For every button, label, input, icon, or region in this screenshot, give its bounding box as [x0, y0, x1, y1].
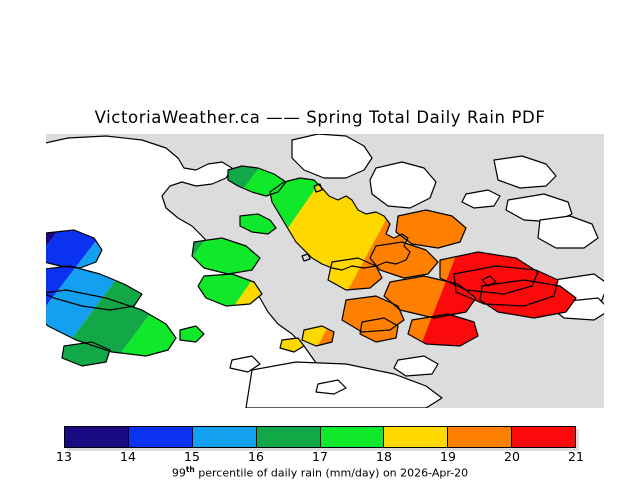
precipitation-map[interactable]	[46, 134, 604, 408]
colorbar-band-18-19[interactable]	[384, 427, 448, 447]
page-title: VictoriaWeather.ca —— Spring Total Daily…	[0, 108, 640, 127]
colorbar-tick-8: 21	[568, 449, 584, 464]
colorbar-tick-0: 13	[56, 449, 72, 464]
colorbar-band-20-21[interactable]	[512, 427, 575, 447]
colorbar-tick-1: 14	[120, 449, 136, 464]
colorbar-ticks: 13 14 15 16 17 18 19 20 21	[0, 449, 640, 465]
colorbar-band-16-17[interactable]	[257, 427, 321, 447]
colorbar-band-15-16[interactable]	[193, 427, 257, 447]
colorbar-tick-6: 19	[440, 449, 456, 464]
colorbar-tick-7: 20	[504, 449, 520, 464]
colorbar-band-19-20[interactable]	[448, 427, 512, 447]
caption-prefix: 99	[172, 467, 186, 480]
colorbar-tick-3: 16	[248, 449, 264, 464]
map-panel[interactable]	[46, 134, 604, 408]
colorbar-tick-2: 15	[184, 449, 200, 464]
colorbar-legend: 13 14 15 16 17 18 19 20 21 99th percenti…	[0, 424, 640, 480]
colorbar-band-13-14[interactable]	[65, 427, 129, 447]
caption-superscript: th	[186, 465, 195, 474]
caption-suffix: percentile of daily rain (mm/day) on 202…	[195, 467, 468, 480]
colorbar-caption: 99th percentile of daily rain (mm/day) o…	[0, 465, 640, 480]
colorbar-bands[interactable]	[64, 426, 576, 448]
colorbar-band-14-15[interactable]	[129, 427, 193, 447]
colorbar-tick-5: 18	[376, 449, 392, 464]
colorbar-tick-4: 17	[312, 449, 328, 464]
colorbar-band-17-18[interactable]	[321, 427, 385, 447]
